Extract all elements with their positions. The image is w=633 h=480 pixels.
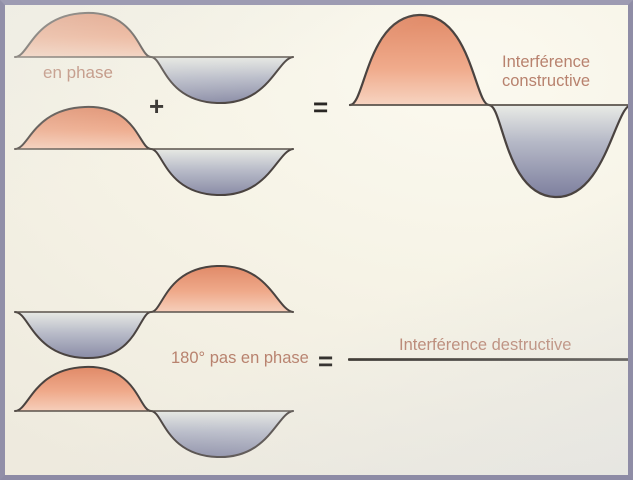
plus-operator: + bbox=[149, 93, 164, 119]
equals-operator-top: = bbox=[313, 94, 328, 120]
caption-180-pas-en-phase: 180° pas en phase bbox=[171, 349, 309, 368]
wave-1-trough bbox=[151, 57, 293, 103]
caption-en-phase: en phase bbox=[43, 63, 113, 83]
wave-sum-constructive bbox=[343, 9, 633, 205]
caption-interference-constructive: Interférence constructive bbox=[502, 53, 590, 92]
wave-4 bbox=[9, 361, 301, 465]
wave-2-trough bbox=[151, 149, 293, 195]
wave-sum-constructive-trough bbox=[489, 105, 631, 197]
equals-operator-bottom: = bbox=[318, 348, 333, 374]
caption-interference-destructive: Interférence destructive bbox=[399, 336, 571, 355]
wave-3-crest bbox=[151, 266, 293, 312]
wave-sum-destructive-flatline bbox=[348, 358, 631, 361]
wave-4-trough bbox=[151, 411, 293, 457]
slide-canvas: + = = en phase Interférence constructive… bbox=[0, 0, 633, 480]
